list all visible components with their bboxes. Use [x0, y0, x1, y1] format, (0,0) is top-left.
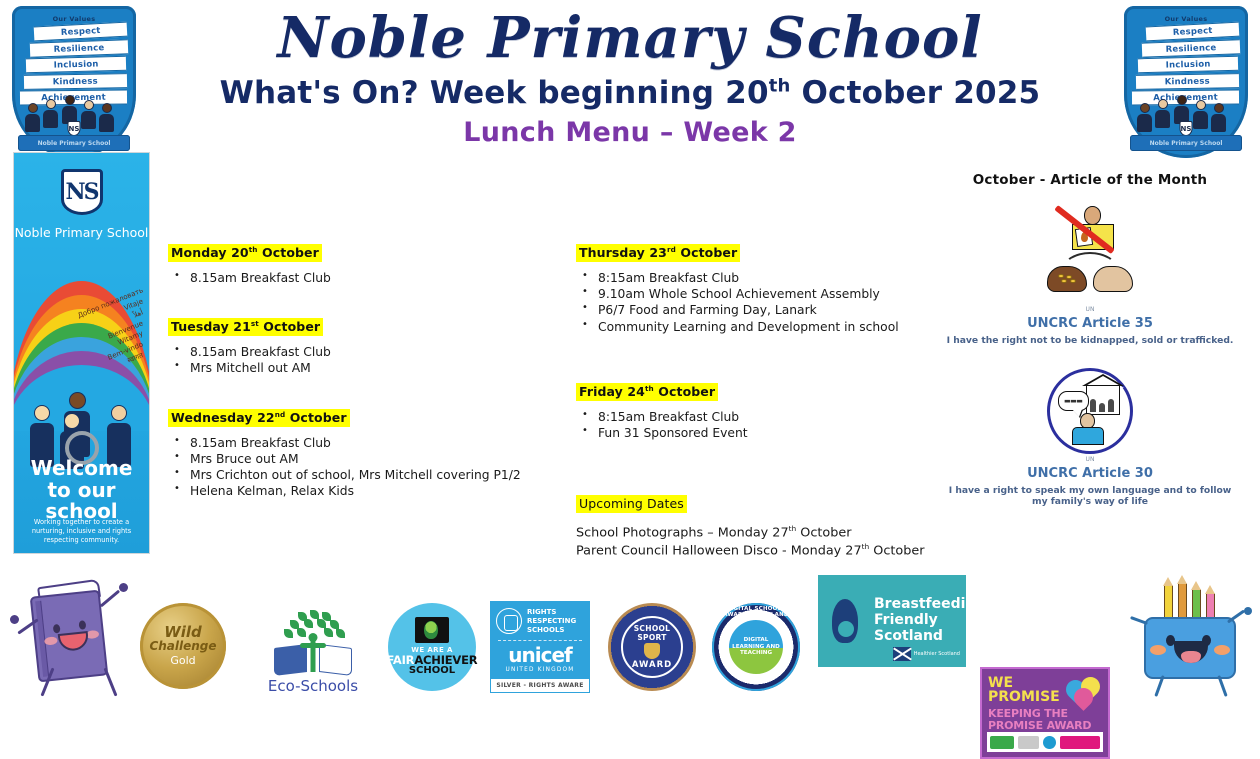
award-eco-schools: Eco-Schools	[258, 612, 368, 695]
upcoming-dates-list: School Photographs – Monday 27th October…	[576, 524, 936, 559]
promise-partner-logos	[987, 732, 1103, 752]
welcome-banner: NS Noble Primary School Добро пожаловать…	[13, 152, 150, 554]
upcoming-date-item: Parent Council Halloween Disco - Monday …	[576, 542, 936, 560]
crest-monogram: NS	[1180, 121, 1193, 136]
digital-outer-text: DIGITAL SCHOOLS AWARDS SCOTLAND	[712, 606, 800, 618]
award-fairachiever-school: WE ARE A FAIRACHIEVER SCHOOL	[388, 603, 476, 691]
sport-award-bottom-text: AWARD	[632, 660, 672, 670]
list-item: P6/7 Food and Farming Day, Lanark	[576, 303, 936, 318]
crest-value-inclusion: Inclusion	[26, 56, 127, 74]
upcoming-date-item: School Photographs – Monday 27th October	[576, 524, 936, 542]
crest-value-inclusion: Inclusion	[1138, 56, 1239, 74]
whats-on-subtitle: What's On? Week beginning 20th October 2…	[150, 75, 1110, 111]
promise-keep-line2: PROMISE AWARD	[988, 720, 1102, 732]
day-title-ordinal: th	[645, 384, 654, 393]
week-column-right: Thursday 23rd October 8:15am Breakfast C…	[576, 242, 936, 582]
crest-value-label: Resilience	[53, 42, 104, 54]
unicef-award-level: SILVER - RIGHTS AWARE	[490, 678, 590, 693]
crest-value-label: Resilience	[1165, 42, 1216, 54]
unicef-rrs-label: RIGHTS RESPECTING SCHOOLS	[527, 608, 584, 635]
day-block-wednesday: Wednesday 22nd October 8.15am Breakfast …	[168, 407, 548, 500]
crest-value-label: Inclusion	[54, 59, 99, 70]
crest-name-banner: Noble Primary School	[18, 135, 130, 151]
un-mark: UN	[940, 306, 1240, 313]
day-title-friday: Friday 24th October	[576, 383, 718, 401]
upcoming-date-suffix: October	[869, 543, 924, 558]
crest-banner-label: Noble Primary School	[1150, 140, 1223, 147]
own-language-family-icon: ▬▬▬	[1047, 368, 1133, 454]
crest-value-resilience: Resilience	[1141, 39, 1239, 57]
healthier-scotland-partner: Healthier Scotland	[893, 647, 960, 661]
day-title-suffix: October	[676, 245, 737, 260]
list-item: 8:15am Breakfast Club	[576, 410, 936, 425]
day-title-suffix: October	[285, 410, 346, 425]
promise-keep-line1: KEEPING THE	[988, 708, 1102, 720]
un-mark: UN	[940, 456, 1240, 463]
banner-welcome-heading: Welcome to our school	[14, 458, 149, 523]
day-title-suffix: October	[258, 245, 319, 260]
crest-value-resilience: Resilience	[29, 39, 127, 57]
sport-award-top-text: SCHOOL SPORT	[623, 624, 681, 642]
fair-line3: SCHOOL	[409, 666, 455, 677]
pencil-case-mascot	[1128, 575, 1252, 703]
award-wild-challenge-gold: Wild Challenge Gold	[140, 603, 226, 689]
day-items-thursday: 8:15am Breakfast Club 9.10am Whole Schoo…	[576, 271, 936, 335]
list-item: Fun 31 Sponsored Event	[576, 426, 936, 441]
list-item: 8.15am Breakfast Club	[168, 436, 548, 451]
whats-on-prefix: What's On? Week beginning 20	[220, 75, 769, 111]
unicef-rrs-row: RIGHTS RESPECTING SCHOOLS	[496, 608, 584, 635]
upcoming-date-suffix: October	[796, 526, 851, 541]
crest-value-kindness: Kindness	[24, 73, 127, 90]
day-title-monday: Monday 20th October	[168, 244, 322, 262]
whats-on-ordinal: th	[769, 76, 791, 97]
uncrc-item-article-35: UN UNCRC Article 35 I have the right not…	[940, 204, 1240, 346]
welcome-line-1: Welcome	[14, 458, 149, 480]
banner-monogram-logo: NS	[61, 169, 103, 215]
list-item: 8:15am Breakfast Club	[576, 271, 936, 286]
award-keeping-the-promise: WE PROMISE KEEPING THE PROMISE AWARD	[980, 667, 1110, 759]
uncrc-panel-heading: October - Article of the Month	[940, 172, 1240, 188]
unicef-badge-body: RIGHTS RESPECTING SCHOOLS unicef UNITED …	[490, 601, 590, 678]
crest-value-label: Inclusion	[1166, 59, 1211, 70]
whats-on-suffix: October 2025	[791, 75, 1041, 111]
saltire-flag-icon	[893, 647, 911, 661]
crest-value-label: Respect	[1173, 25, 1213, 37]
wild-challenge-level: Gold	[170, 654, 195, 667]
breastfeeding-line3: Scotland	[874, 629, 985, 645]
list-item: Mrs Mitchell out AM	[168, 361, 548, 376]
page-title: Noble Primary School	[150, 10, 1110, 66]
school-crest-right: Our Values Respect Resilience Inclusion …	[1124, 6, 1248, 158]
day-title-prefix: Friday 24	[579, 384, 645, 399]
mother-and-baby-icon	[826, 595, 866, 647]
uncrc-article-number: UNCRC Article 30	[940, 466, 1240, 481]
day-title-prefix: Tuesday 21	[171, 319, 251, 334]
week-column-left: Monday 20th October 8.15am Breakfast Clu…	[168, 242, 548, 522]
crest-monogram: NS	[68, 121, 81, 136]
list-item: 8.15am Breakfast Club	[168, 345, 548, 360]
day-block-monday: Monday 20th October 8.15am Breakfast Clu…	[168, 242, 548, 286]
trophy-icon	[644, 643, 660, 659]
crest-value-label: Kindness	[1164, 76, 1209, 87]
crest-banner-label: Noble Primary School	[38, 140, 111, 147]
uncrc-article-panel: October - Article of the Month UN UNCRC …	[940, 172, 1240, 507]
crest-value-respect: Respect	[34, 22, 128, 42]
digital-inner-disc: DIGITAL LEARNING AND TEACHING	[729, 620, 783, 674]
list-item: 9.10am Whole School Achievement Assembly	[576, 287, 936, 302]
day-title-thursday: Thursday 23rd October	[576, 244, 740, 262]
uncrc-article-description: I have a right to speak my own language …	[940, 485, 1240, 507]
day-title-ordinal: th	[249, 245, 258, 254]
list-item: Helena Kelman, Relax Kids	[168, 484, 548, 499]
eco-schools-icon	[270, 612, 356, 674]
upcoming-dates-title: Upcoming Dates	[576, 495, 687, 513]
day-title-prefix: Wednesday 22	[171, 410, 275, 425]
uncrc-item-article-30: ▬▬▬ UN UNCRC Article 30 I have a right t…	[940, 368, 1240, 507]
banner-pupils-illustration	[24, 371, 139, 467]
welcome-line-2: to our school	[14, 480, 149, 523]
multilingual-welcome-words: Добро пожаловать Vitaje أهلاً Bienvenue …	[73, 285, 143, 361]
list-item: Mrs Crichton out of school, Mrs Mitchell…	[168, 468, 548, 483]
day-title-suffix: October	[654, 384, 715, 399]
day-title-ordinal: nd	[275, 410, 286, 419]
list-item: 8.15am Breakfast Club	[168, 271, 548, 286]
banner-school-name: Noble Primary School	[14, 225, 149, 240]
upcoming-dates-block: Upcoming Dates School Photographs – Mond…	[576, 493, 936, 559]
unicef-wordmark: unicef	[496, 645, 584, 665]
school-crest-left: Our Values Respect Resilience Inclusion …	[12, 6, 136, 158]
day-block-tuesday: Tuesday 21st October 8.15am Breakfast Cl…	[168, 316, 548, 376]
divider	[498, 640, 582, 641]
lunch-menu-subtitle: Lunch Menu – Week 2	[150, 117, 1110, 148]
crest-value-kindness: Kindness	[1136, 73, 1239, 90]
day-title-ordinal: rd	[667, 245, 676, 254]
award-digital-schools-scotland: DIGITAL SCHOOLS AWARDS SCOTLAND DIGITAL …	[712, 603, 800, 691]
day-items-friday: 8:15am Breakfast Club Fun 31 Sponsored E…	[576, 410, 936, 441]
book-mascot	[8, 575, 130, 703]
day-block-friday: Friday 24th October 8:15am Breakfast Clu…	[576, 381, 936, 441]
breastfeeding-line1: Breastfeeding	[874, 597, 985, 613]
crest-value-label: Respect	[61, 25, 101, 37]
unicef-country-label: UNITED KINGDOM	[496, 667, 584, 673]
breastfeeding-line2: Friendly	[874, 613, 985, 629]
day-title-suffix: October	[259, 319, 320, 334]
crest-value-label: Kindness	[52, 76, 97, 87]
award-badges-row: Wild Challenge Gold Eco-Schools WE ARE A	[140, 583, 1130, 701]
banner-tagline: Working together to create a nurturing, …	[20, 518, 143, 545]
crest-name-banner: Noble Primary School	[1130, 135, 1242, 151]
unicef-globe-icon	[496, 608, 522, 634]
day-items-monday: 8.15am Breakfast Club	[168, 271, 548, 286]
fairtrade-mark-icon	[415, 617, 449, 643]
page-header: Noble Primary School What's On? Week beg…	[150, 10, 1110, 148]
no-trafficking-icon	[1040, 204, 1140, 304]
day-title-ordinal: st	[251, 319, 259, 328]
pencil-case-body	[1144, 617, 1236, 679]
sport-award-ring: SCHOOL SPORT AWARD	[621, 616, 683, 678]
upcoming-date-prefix: Parent Council Halloween Disco - Monday …	[576, 543, 862, 558]
wild-challenge-line2: Challenge	[149, 640, 216, 652]
day-title-wednesday: Wednesday 22nd October	[168, 409, 350, 427]
list-item: Mrs Bruce out AM	[168, 452, 548, 467]
heart-icon	[1066, 677, 1100, 707]
award-breastfeeding-friendly-scotland: Breastfeeding Friendly Scotland Healthie…	[818, 575, 966, 667]
uncrc-article-description: I have the right not to be kidnapped, so…	[940, 335, 1240, 346]
uncrc-article-number: UNCRC Article 35	[940, 316, 1240, 331]
award-school-sport-award: SCHOOL SPORT AWARD	[608, 603, 696, 691]
award-unicef-rights-respecting-schools: RIGHTS RESPECTING SCHOOLS unicef UNITED …	[490, 601, 590, 693]
digital-inner-text: DIGITAL LEARNING AND TEACHING	[729, 637, 783, 657]
day-items-tuesday: 8.15am Breakfast Club Mrs Mitchell out A…	[168, 345, 548, 376]
eco-schools-label: Eco-Schools	[258, 677, 368, 695]
crest-value-respect: Respect	[1146, 22, 1240, 42]
day-items-wednesday: 8.15am Breakfast Club Mrs Bruce out AM M…	[168, 436, 548, 500]
wild-challenge-line1: Wild	[164, 625, 202, 639]
day-block-thursday: Thursday 23rd October 8:15am Breakfast C…	[576, 242, 936, 335]
list-item: Community Learning and Development in sc…	[576, 320, 936, 335]
day-title-prefix: Monday 20	[171, 245, 249, 260]
day-title-tuesday: Tuesday 21st October	[168, 318, 323, 336]
upcoming-date-prefix: School Photographs – Monday 27	[576, 526, 789, 541]
healthier-scotland-label: Healthier Scotland	[914, 651, 960, 657]
book-body	[30, 590, 109, 683]
day-title-prefix: Thursday 23	[579, 245, 667, 260]
breastfeeding-label: Breastfeeding Friendly Scotland	[874, 597, 985, 644]
